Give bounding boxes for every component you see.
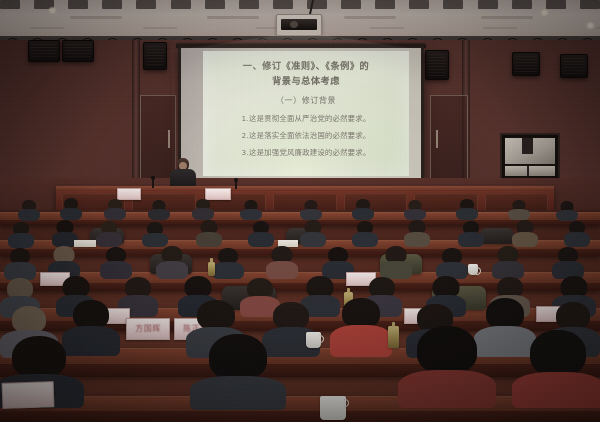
- conference-hall-photo: 一、修订《准则》、《条例》的 背景与总体考虑 （一）修订背景 1.这是贯彻全面从…: [0, 0, 600, 422]
- photo-vignette: [0, 0, 600, 422]
